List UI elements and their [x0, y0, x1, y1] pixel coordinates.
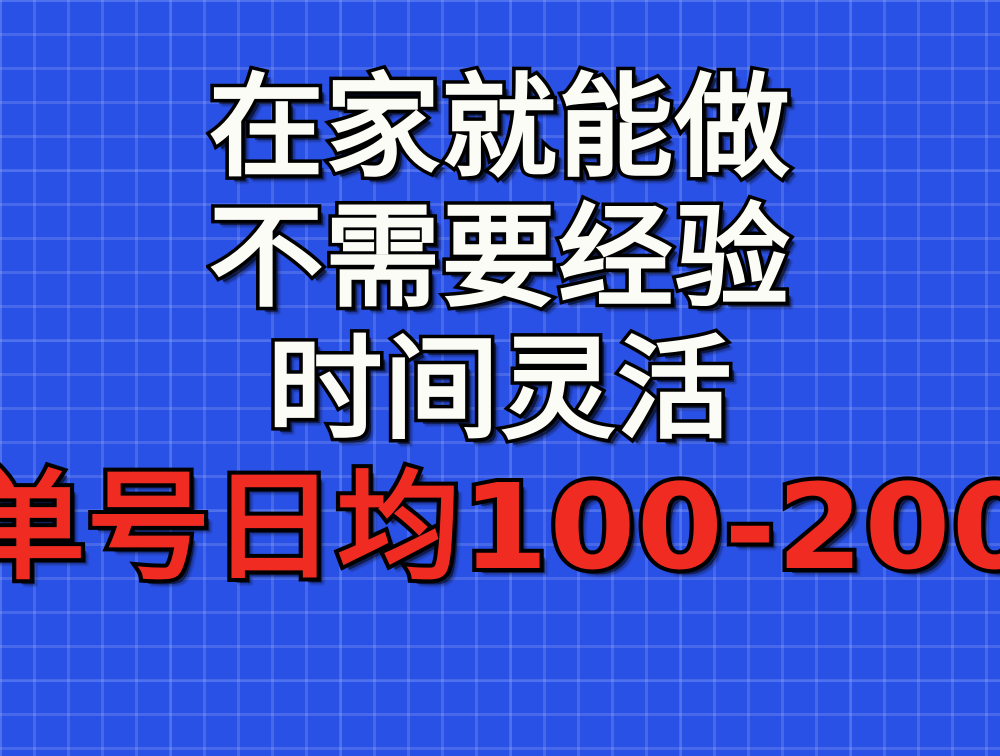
headline-stack: 在家就能做 不需要经验 时间灵活 单号日均100-200	[0, 0, 1000, 756]
promo-poster: 在家就能做 不需要经验 时间灵活 单号日均100-200	[0, 0, 1000, 756]
headline-line-1: 在家就能做	[209, 72, 792, 184]
headline-line-4-earnings: 单号日均100-200	[0, 468, 1000, 586]
headline-line-3: 时间灵活	[267, 334, 733, 446]
headline-line-2: 不需要经验	[209, 202, 792, 314]
